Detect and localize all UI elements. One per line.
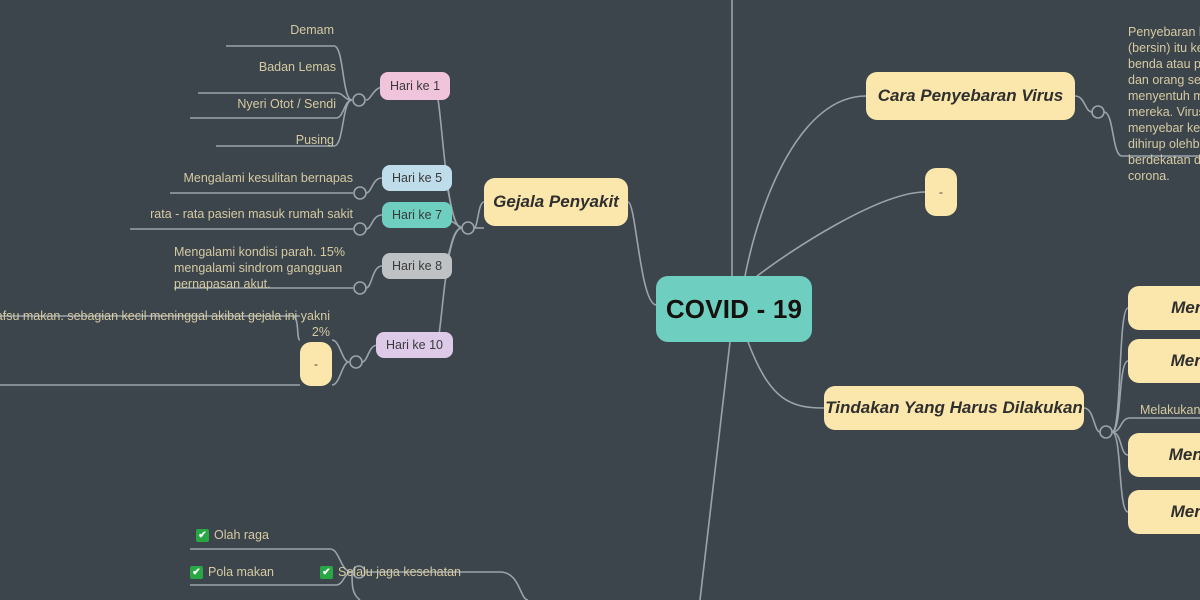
link-central-dashright <box>752 192 925 280</box>
check-icon: ✔ <box>320 566 333 579</box>
link-central-gejala <box>628 202 656 305</box>
junction-gejala <box>462 222 474 234</box>
action-node-mencuci[interactable]: Mencu <box>1128 286 1200 330</box>
tip-label: Selalu jaga kesehatan <box>338 565 461 579</box>
link-day5-leaf <box>366 178 382 193</box>
symptom-nyeri-otot-sendi: Nyeri Otot / Sendi <box>156 96 336 112</box>
link-central-penyebaran <box>745 96 866 276</box>
link-day7-leaf <box>366 215 382 229</box>
link-tindakan-a2 <box>1112 361 1128 432</box>
symptom-masuk-rumah-sakit: rata - rata pasien masuk rumah sakit <box>90 206 353 222</box>
mindmap-canvas: COVID - 19 Gejala Penyakit Cara Penyebar… <box>0 0 1200 600</box>
symptom-badan-lemas: Badan Lemas <box>156 59 336 75</box>
tip-pola-makan: ✔ Pola makan <box>190 565 274 579</box>
day-node-hari-ke-1[interactable]: Hari ke 1 <box>380 72 450 100</box>
day-node-hari-ke-8[interactable]: Hari ke 8 <box>382 253 452 279</box>
junction-day8 <box>354 282 366 294</box>
link-day10-dash-top <box>332 340 349 362</box>
link-day1-leaf3 <box>336 100 352 118</box>
day-node-hari-ke-10[interactable]: Hari ke 10 <box>376 332 453 358</box>
tip-label: Olah raga <box>214 528 269 542</box>
link-penyebaran-junction <box>1075 96 1092 112</box>
day-node-hari-ke-5[interactable]: Hari ke 5 <box>382 165 452 191</box>
symptom-kondisi-parah: Mengalami kondisi parah. 15% mengalami s… <box>174 244 354 292</box>
junction-day7 <box>354 223 366 235</box>
link-penyebaran-para <box>1104 112 1122 156</box>
tip-selalu-jaga-kesehatan: ✔ Selalu jaga kesehatan <box>320 565 461 579</box>
check-icon: ✔ <box>190 566 203 579</box>
link-tindakan-a4 <box>1112 432 1128 455</box>
junction-day5 <box>354 187 366 199</box>
action-leaf-melakukan: Melakukan d <box>1140 402 1200 418</box>
link-gejala-junction-curve <box>474 202 484 228</box>
action-node-menjaga[interactable]: Menjag <box>1128 433 1200 477</box>
branch-dash-gejala[interactable]: - <box>300 342 332 386</box>
link-day10-dash-bottom <box>332 362 349 385</box>
tip-label: Pola makan <box>208 565 274 579</box>
symptom-kesulitan-bernapas: Mengalami kesulitan bernapas <box>120 170 353 186</box>
action-node-menggunakan[interactable]: Mengg <box>1128 339 1200 383</box>
symptom-pusing: Pusing <box>180 132 334 148</box>
central-node-covid19[interactable]: COVID - 19 <box>656 276 812 342</box>
link-tindakan-a5 <box>1112 432 1128 512</box>
spread-paragraph: Penyebaran bi (bersin) itu ker benda ata… <box>1128 24 1200 184</box>
junction-day10 <box>350 356 362 368</box>
link-day8-leaf <box>366 266 382 288</box>
junction-day1 <box>353 94 365 106</box>
branch-cara-penyebaran-virus[interactable]: Cara Penyebaran Virus <box>866 72 1075 120</box>
junction-tindakan <box>1100 426 1112 438</box>
link-day1-leaf1 <box>334 46 352 100</box>
day-node-hari-ke-7[interactable]: Hari ke 7 <box>382 202 452 228</box>
link-tindakan-a3 <box>1112 418 1130 432</box>
link-central-down <box>700 342 730 600</box>
link-tindakan-a1 <box>1112 308 1128 432</box>
junction-penyebaran <box>1092 106 1104 118</box>
link-tindakan-junction <box>1084 408 1100 432</box>
check-icon: ✔ <box>196 529 209 542</box>
symptom-nafsu-makan: nafsu makan. sebagian kecil meninggal ak… <box>0 308 330 340</box>
link-tips-right-down <box>500 572 528 600</box>
branch-gejala-penyakit[interactable]: Gejala Penyakit <box>484 178 628 226</box>
symptom-demam: Demam <box>180 22 334 38</box>
link-day1-leaf2 <box>336 93 352 100</box>
link-central-tindakan <box>748 342 824 408</box>
link-day1-leaf4 <box>334 100 352 146</box>
action-node-menghindari[interactable]: Mengh <box>1128 490 1200 534</box>
link-junction-day10 <box>436 228 462 345</box>
branch-tindakan-harus-dilakukan[interactable]: Tindakan Yang Harus Dilakukan <box>824 386 1084 430</box>
tip-olah-raga: ✔ Olah raga <box>196 528 269 542</box>
branch-dash-penyebaran[interactable]: - <box>925 168 957 216</box>
